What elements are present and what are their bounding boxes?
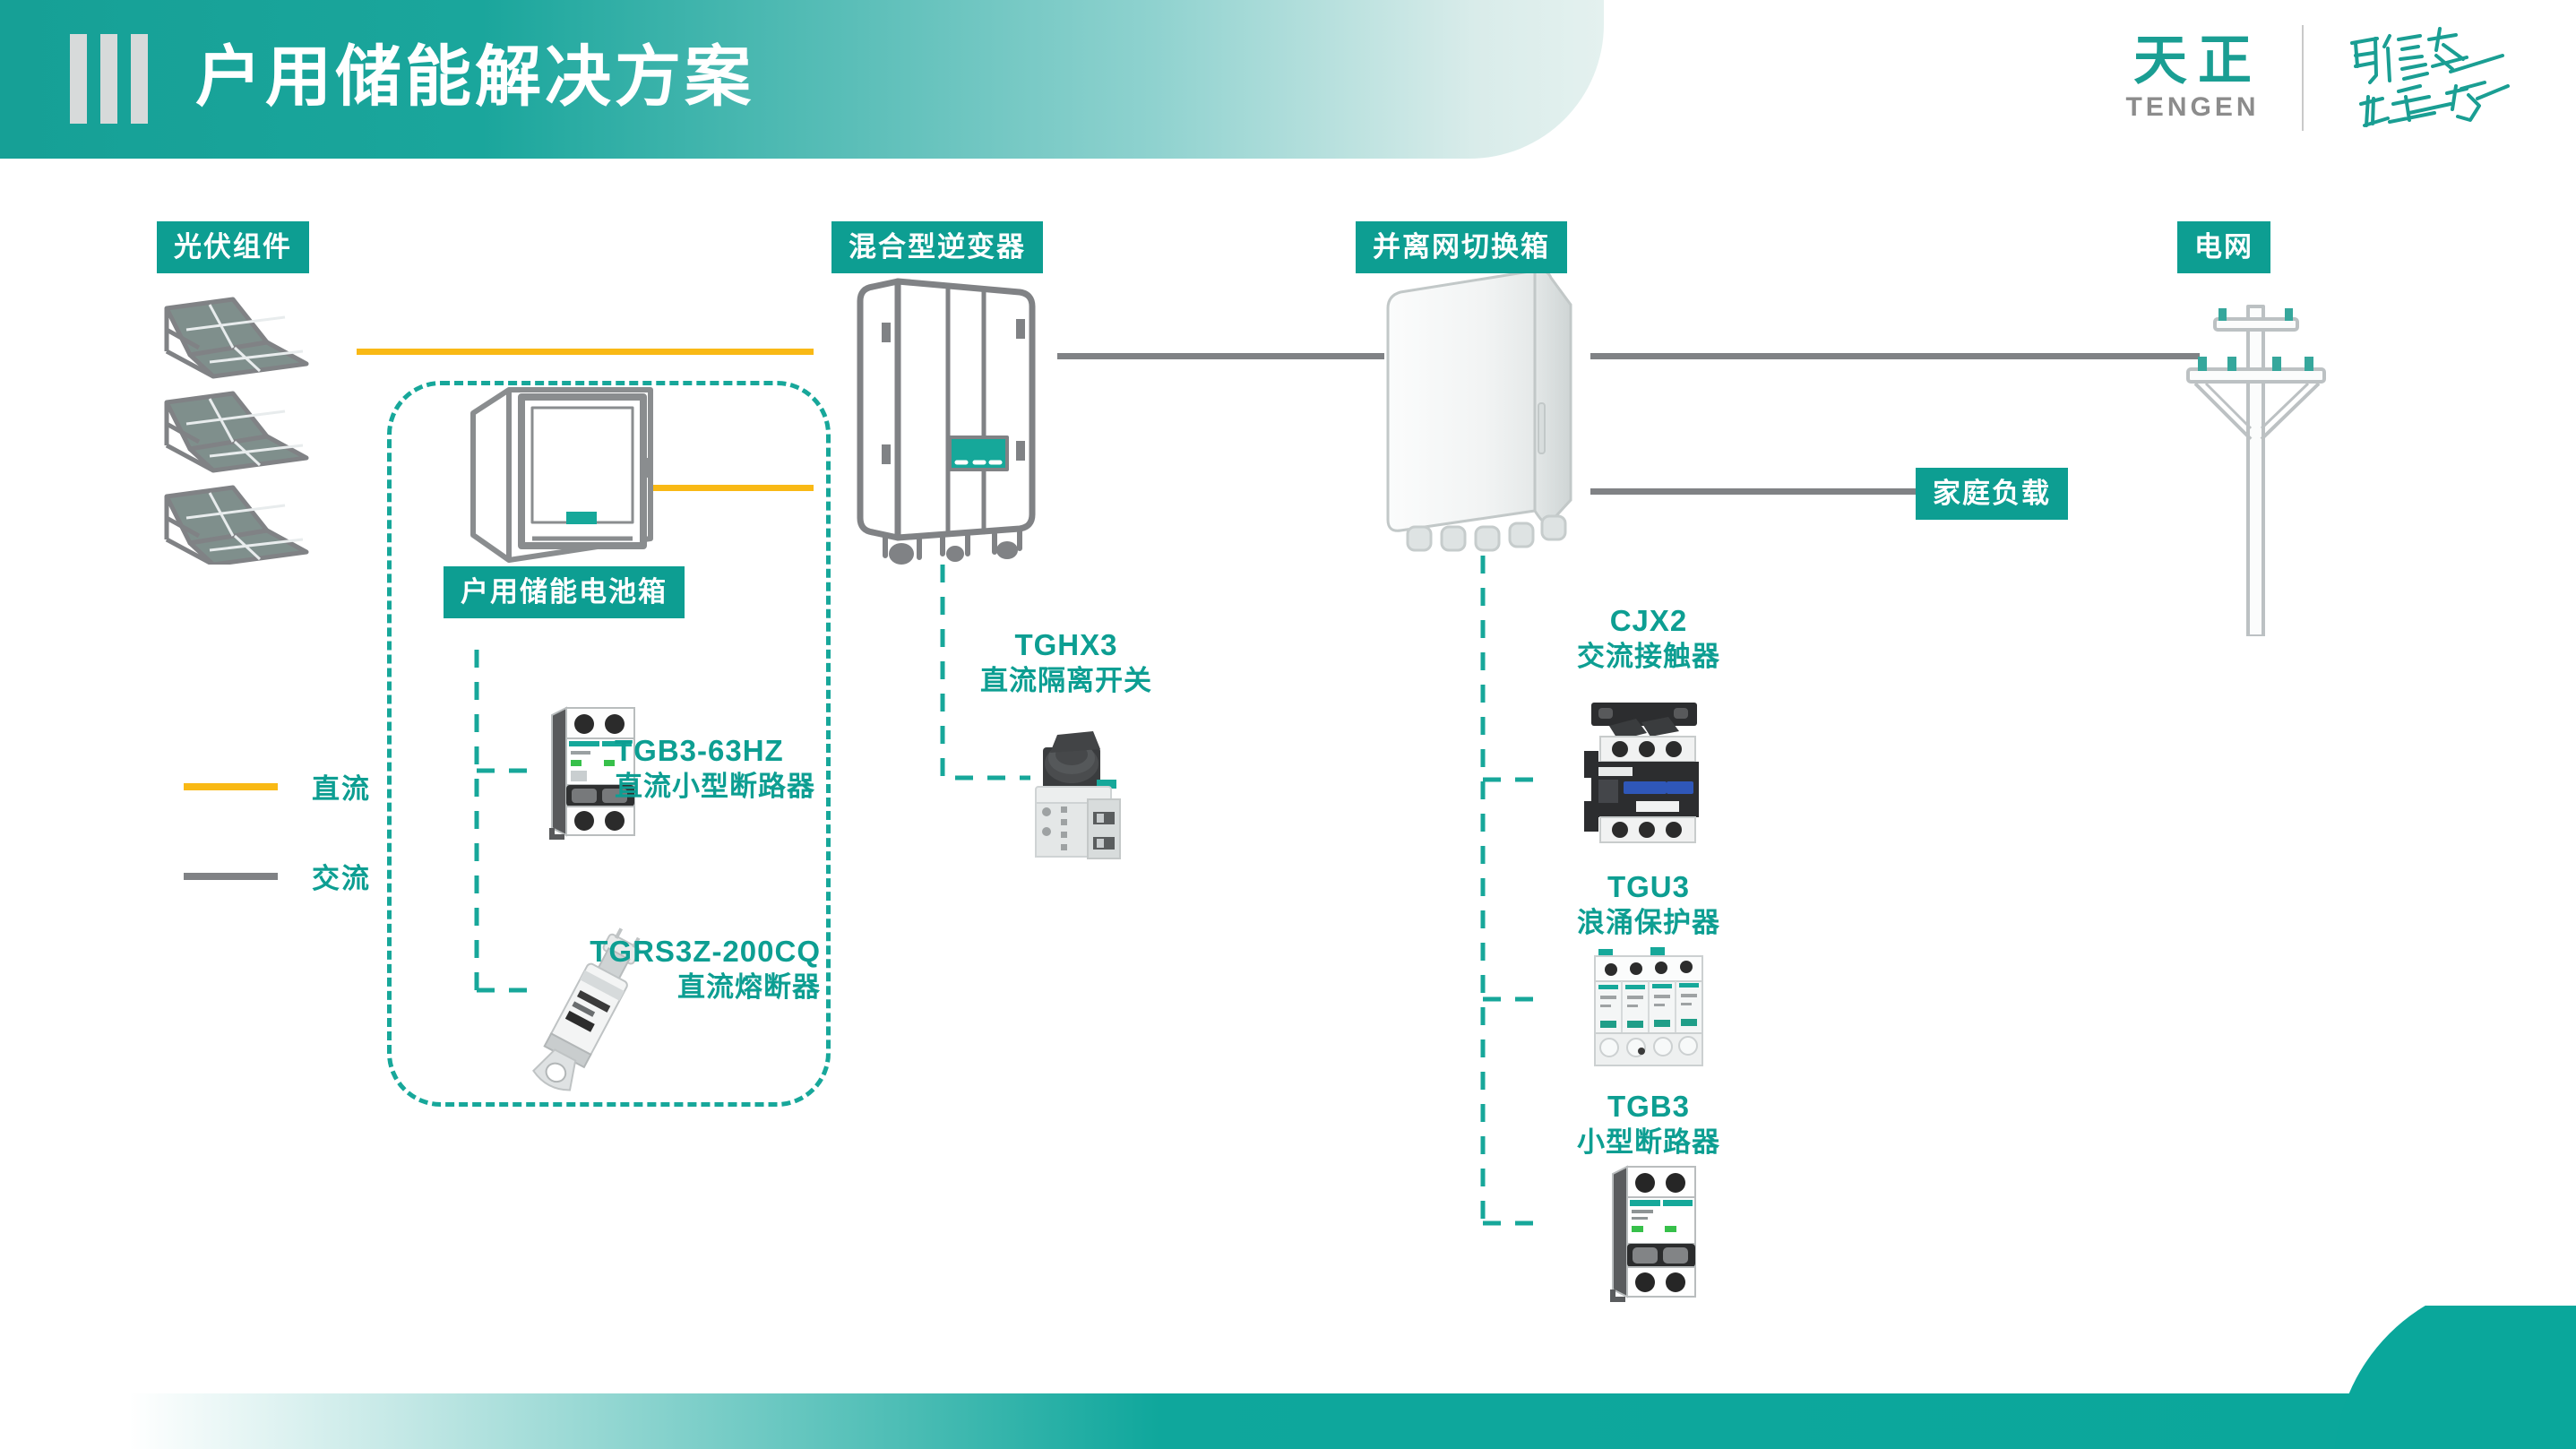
footer-band	[0, 1393, 2576, 1449]
logo-english-name: TENGEN	[2125, 92, 2259, 123]
utility-pole-illustration	[2168, 296, 2348, 636]
callout-model-cjx2: CJX2	[1514, 603, 1783, 639]
callout-tghx3: TGHX3 直流隔离开关	[932, 627, 1201, 699]
callout-model-tgb3-63hz: TGB3-63HZ	[615, 733, 815, 769]
section-label-pv: 光伏组件	[157, 221, 309, 273]
callout-desc-tgu3: 浪涌保护器	[1514, 905, 1783, 941]
callout-tgu3: TGU3 浪涌保护器	[1514, 869, 1783, 941]
section-label-grid: 电网	[2177, 221, 2270, 273]
callout-desc-cjx2: 交流接触器	[1514, 639, 1783, 675]
callout-desc-tgb3: 小型断路器	[1514, 1125, 1783, 1160]
callout-model-tghx3: TGHX3	[932, 627, 1201, 663]
footer-swoosh	[2307, 1306, 2576, 1449]
wire-switchbox-to-grid-ac	[1590, 353, 2200, 359]
page-title: 户用储能解决方案	[195, 20, 754, 134]
logo-divider	[2302, 25, 2304, 131]
legend-swatch-dc	[184, 783, 278, 790]
brand-logo: 天正 TENGEN	[2123, 20, 2513, 136]
section-label-switchbox: 并离网切换箱	[1356, 221, 1567, 273]
logo-slogan-handwriting	[2343, 20, 2513, 136]
section-label-load: 家庭负载	[1916, 468, 2068, 520]
legend-label-dc: 直流	[312, 766, 371, 806]
callout-desc-tgb3-63hz: 直流小型断路器	[615, 769, 815, 805]
callout-cjx2: CJX2 交流接触器	[1514, 603, 1783, 675]
callout-model-tgrs3z-200cq: TGRS3Z-200CQ	[409, 934, 821, 970]
switchbox-illustration	[1375, 269, 1590, 556]
legend-item-dc: 直流	[184, 766, 371, 806]
wire-inverter-to-switchbox-ac	[1057, 353, 1384, 359]
callout-desc-tghx3: 直流隔离开关	[932, 663, 1201, 699]
logo-mark: 天正 TENGEN	[2123, 33, 2262, 123]
legend-item-ac: 交流	[184, 856, 371, 896]
mcb-product-image	[1595, 1158, 1711, 1306]
callout-tgb3: TGB3 小型断路器	[1514, 1089, 1783, 1160]
surge-protector-product-image	[1586, 945, 1711, 1080]
wire-pv-to-inverter-dc	[357, 349, 814, 355]
battery-cabinet-illustration	[459, 381, 665, 578]
legend-label-ac: 交流	[312, 856, 371, 896]
section-label-battery: 户用储能电池箱	[444, 566, 685, 618]
dc-isolator-product-image	[1011, 717, 1136, 869]
ac-contactor-product-image	[1570, 697, 1722, 854]
callout-desc-tgrs3z-200cq: 直流熔断器	[409, 970, 821, 1005]
section-label-inverter: 混合型逆变器	[831, 221, 1043, 273]
diagram-canvas: 户用储能解决方案 天正 TENGEN	[0, 0, 2576, 1449]
legend-swatch-ac	[184, 873, 278, 880]
header-bars-icon	[70, 34, 148, 124]
callout-tgrs3z-200cq: TGRS3Z-200CQ 直流熔断器	[409, 934, 821, 1005]
callout-tgb3-63hz: TGB3-63HZ 直流小型断路器	[615, 733, 815, 805]
inverter-illustration	[842, 269, 1048, 565]
pv-panels-illustration	[134, 296, 340, 565]
logo-chinese-name: 天正	[2123, 33, 2262, 89]
wire-switchbox-to-load-ac	[1590, 488, 1922, 495]
page-header: 户用储能解决方案	[0, 0, 1604, 159]
callout-model-tgu3: TGU3	[1514, 869, 1783, 905]
callout-model-tgb3: TGB3	[1514, 1089, 1783, 1125]
